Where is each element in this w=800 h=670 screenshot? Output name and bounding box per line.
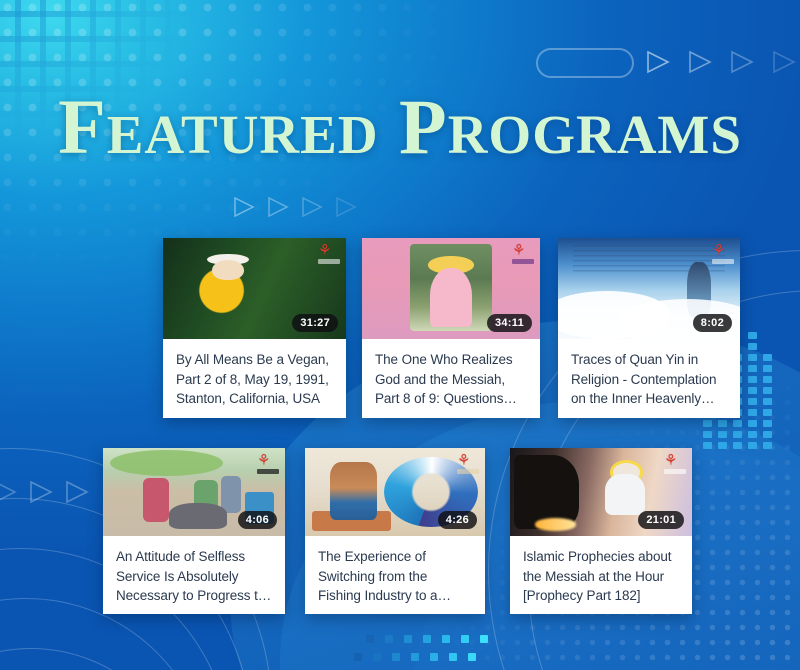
play-triangle-icon	[334, 196, 358, 218]
duration-badge: 4:26	[438, 511, 477, 529]
channel-logo-icon: ⚘	[664, 453, 686, 472]
program-card[interactable]: ⚘ 4:06 An Attitude of Selfless Service I…	[103, 448, 285, 614]
program-card[interactable]: ⚘ 21:01 Islamic Prophecies about the Mes…	[510, 448, 692, 614]
channel-logo-icon: ⚘	[512, 243, 534, 262]
play-triangle-icon	[300, 196, 324, 218]
page-title: Featured Programs	[0, 88, 800, 166]
play-triangle-icon	[232, 196, 256, 218]
play-triangle-icon	[645, 50, 671, 74]
card-thumbnail[interactable]: ⚘ 4:06	[103, 448, 285, 536]
duration-badge: 21:01	[638, 511, 684, 529]
card-title: The Experience of Switching from the Fis…	[305, 536, 485, 614]
program-card[interactable]: ⚘ 31:27 By All Means Be a Vegan, Part 2 …	[163, 238, 346, 418]
channel-logo-icon: ⚘	[712, 243, 734, 262]
channel-logo-icon: ⚘	[457, 453, 479, 472]
play-triangle-icon	[687, 50, 713, 74]
featured-programs-banner: Featured Programs ⚘ 31:27 By All Means B…	[0, 0, 800, 670]
card-title: The One Who Realizes God and the Messiah…	[362, 339, 540, 418]
card-thumbnail[interactable]: ⚘ 34:11	[362, 238, 540, 339]
card-thumbnail[interactable]: ⚘ 8:02	[558, 238, 740, 339]
play-triangle-icon	[0, 480, 18, 504]
square-dots-row-1	[366, 635, 488, 643]
card-title: Traces of Quan Yin in Religion - Contemp…	[558, 339, 740, 418]
pill-outline-decor	[536, 48, 634, 78]
play-triangle-icon	[28, 480, 54, 504]
duration-badge: 4:06	[238, 511, 277, 529]
channel-logo-icon: ⚘	[257, 453, 279, 472]
card-thumbnail[interactable]: ⚘ 4:26	[305, 448, 485, 536]
duration-badge: 34:11	[487, 314, 532, 332]
channel-logo-icon: ⚘	[318, 243, 340, 262]
play-triangle-icon	[771, 50, 797, 74]
play-triangle-icon	[64, 480, 90, 504]
program-card[interactable]: ⚘ 4:26 The Experience of Switching from …	[305, 448, 485, 614]
card-title: By All Means Be a Vegan, Part 2 of 8, Ma…	[163, 339, 346, 418]
play-triangle-icon	[729, 50, 755, 74]
card-thumbnail[interactable]: ⚘ 31:27	[163, 238, 346, 339]
square-dots-row-2	[354, 653, 476, 661]
play-triangle-icon	[266, 196, 290, 218]
program-card[interactable]: ⚘ 8:02 Traces of Quan Yin in Religion - …	[558, 238, 740, 418]
duration-badge: 31:27	[292, 314, 338, 332]
program-card[interactable]: ⚘ 34:11 The One Who Realizes God and the…	[362, 238, 540, 418]
card-title: Islamic Prophecies about the Messiah at …	[510, 536, 692, 614]
duration-badge: 8:02	[693, 314, 732, 332]
concentric-ring-5	[0, 648, 192, 670]
card-title: An Attitude of Selfless Service Is Absol…	[103, 536, 285, 614]
card-thumbnail[interactable]: ⚘ 21:01	[510, 448, 692, 536]
